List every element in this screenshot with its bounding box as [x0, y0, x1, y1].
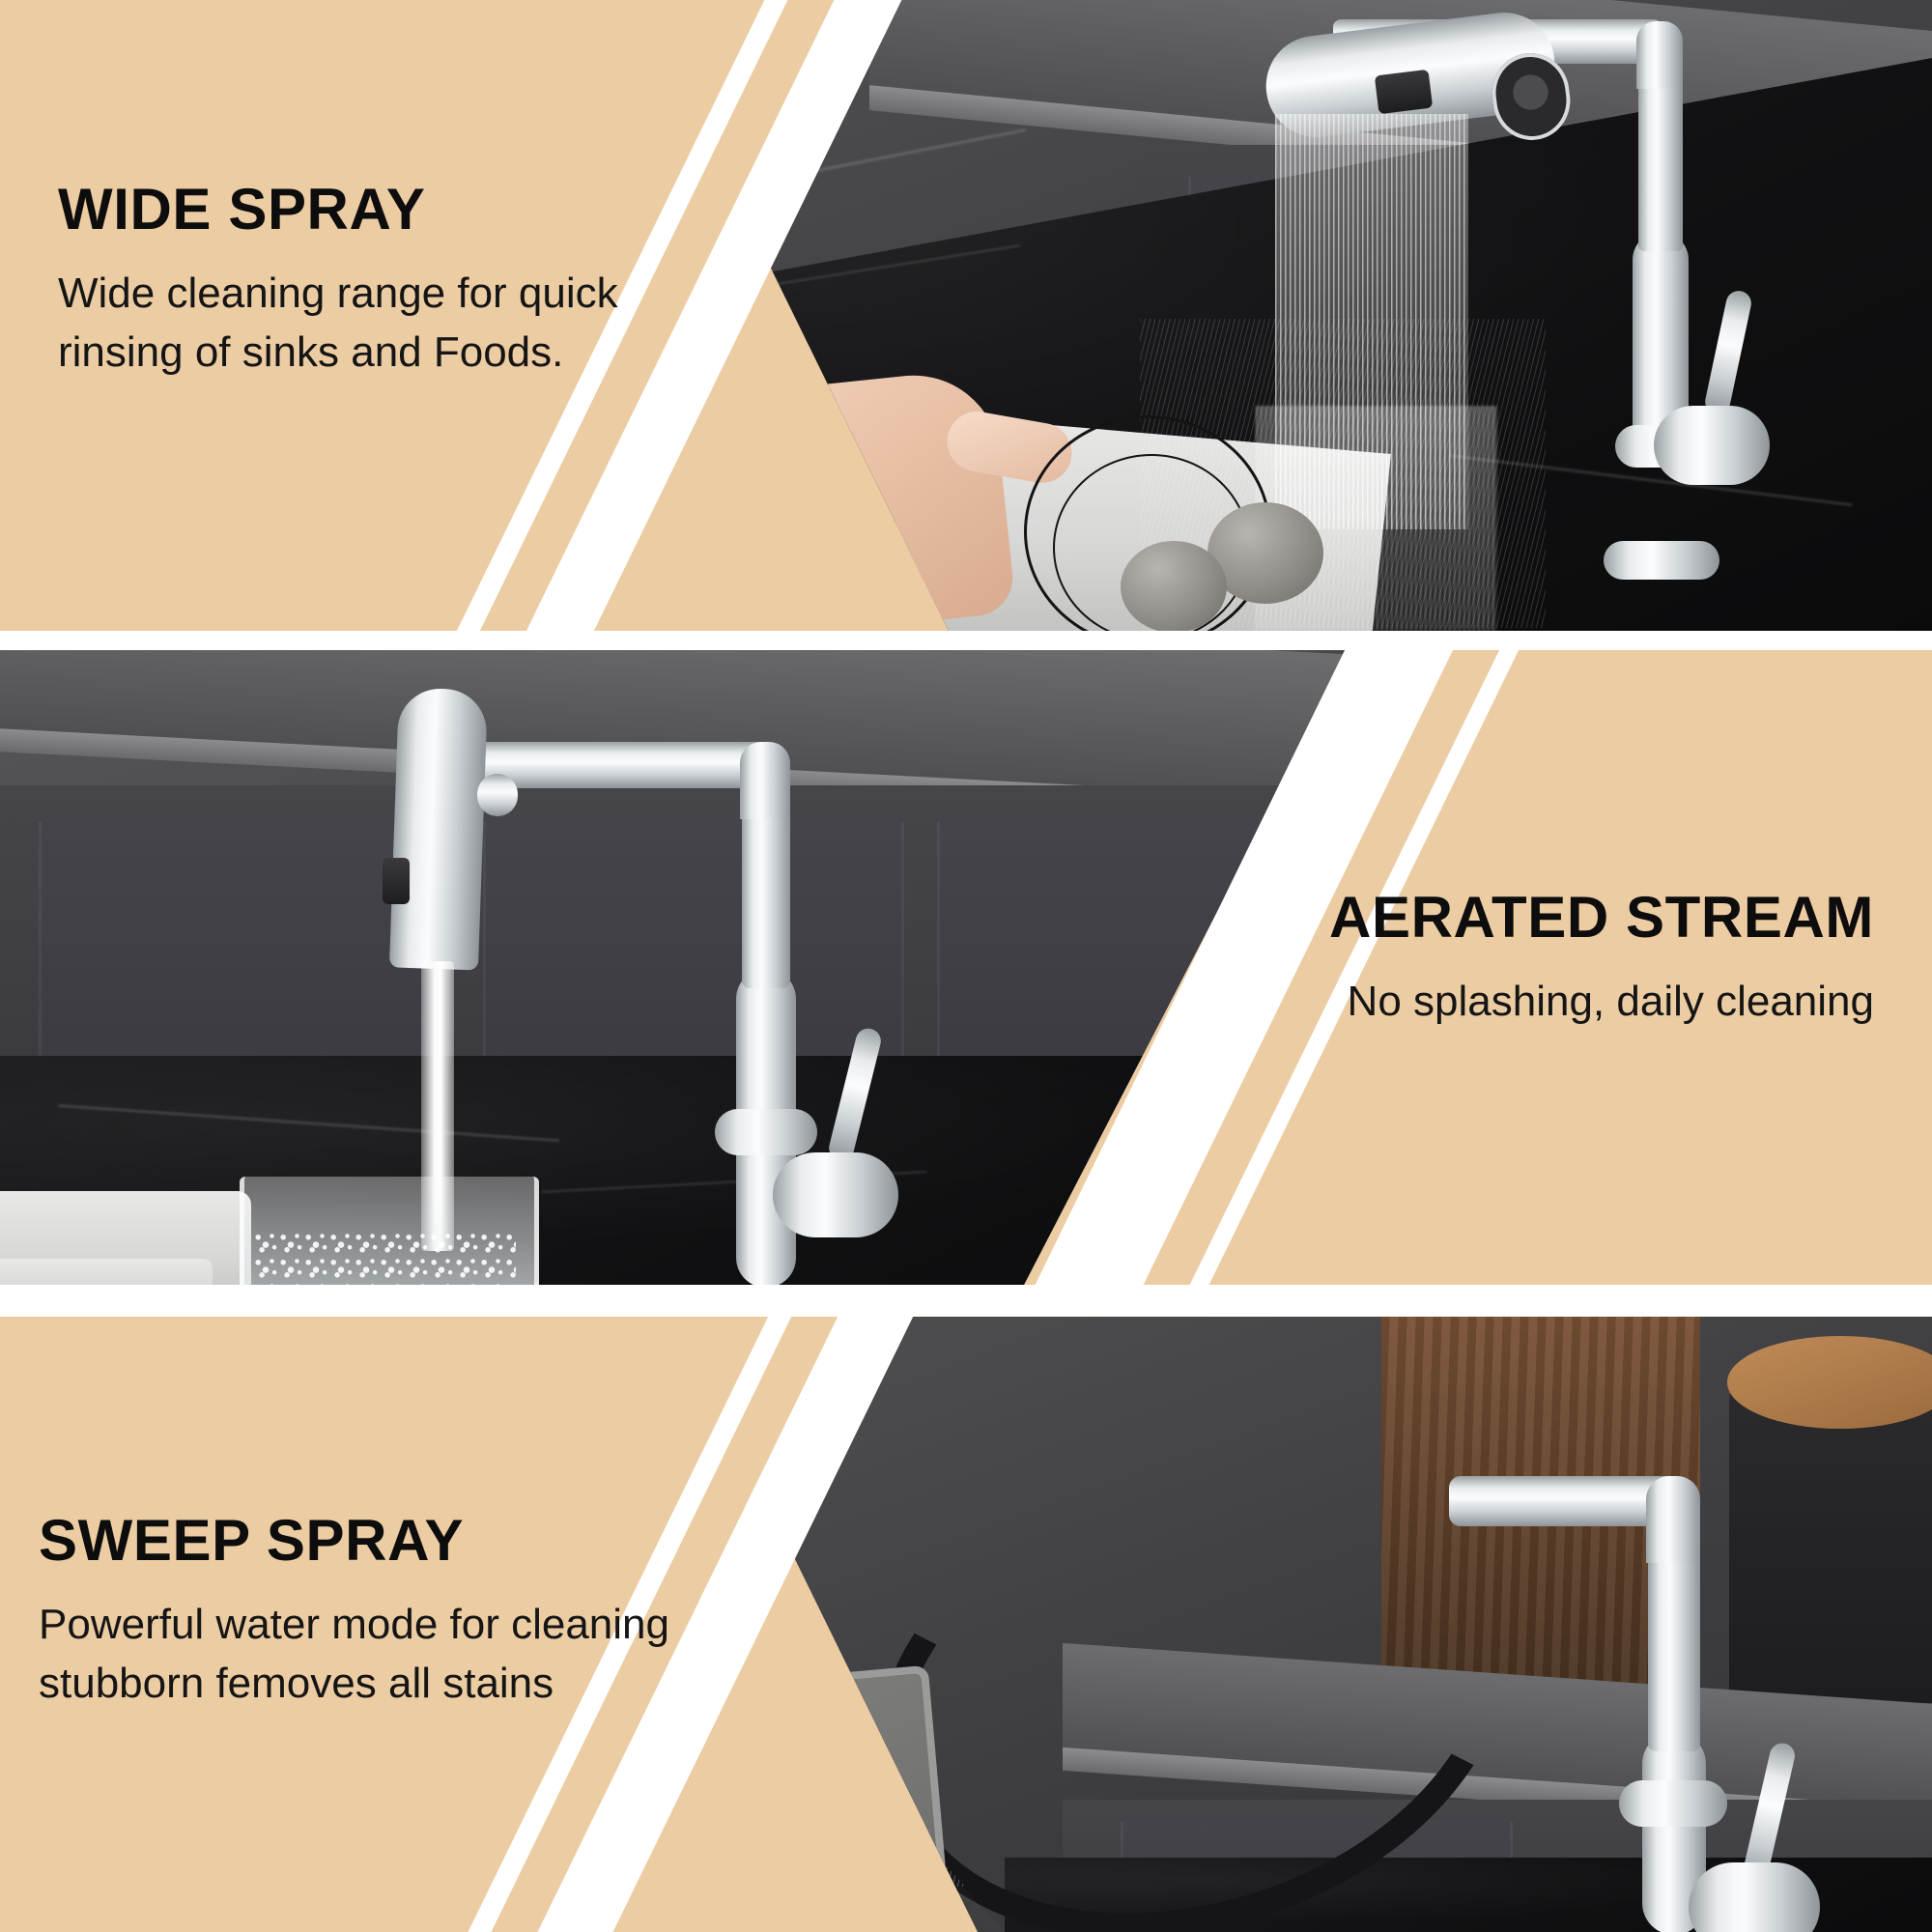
faucet-arm-elbow	[1646, 1476, 1700, 1563]
feature-panel-wide-spray: WIDE SPRAY Wide cleaning range for quick…	[0, 0, 1932, 631]
feature-panel-aerated-stream: AERATED STREAM No splashing, daily clean…	[0, 650, 1932, 1285]
panel-2-copy: AERATED STREAM No splashing, daily clean…	[1329, 887, 1874, 1032]
faucet-handle-cap	[1689, 1862, 1820, 1932]
faucet-base-collar	[1619, 1780, 1727, 1827]
spray-mode-button	[604, 1450, 639, 1505]
spray-head-body	[389, 687, 488, 970]
tray-stain-1	[456, 1755, 838, 1932]
faucet-handle-cap	[773, 1152, 898, 1237]
feature-panel-sweep-spray: SWEEP SPRAY Powerful water mode for clea…	[0, 1317, 1932, 1932]
hand	[607, 367, 1016, 631]
spray-head-pivot	[477, 774, 518, 816]
panel-2-headline: AERATED STREAM	[1329, 887, 1874, 948]
faucet-handle-cap	[1654, 406, 1770, 485]
cup-bubbles	[253, 1230, 516, 1285]
spray-mode-button	[383, 858, 410, 904]
faucet-base-collar	[715, 1109, 817, 1155]
potato-2	[1121, 541, 1227, 631]
panel-3-headline: SWEEP SPRAY	[39, 1510, 676, 1571]
hand-lower	[5, 1786, 266, 1932]
faucet-arm-elbow	[1636, 21, 1683, 89]
panel-3-copy: SWEEP SPRAY Powerful water mode for clea…	[39, 1510, 676, 1713]
panel-3-subcopy: Powerful water mode for cleaning stubbor…	[39, 1596, 676, 1713]
dish-rack	[0, 1259, 213, 1285]
panel-1-copy: WIDE SPRAY Wide cleaning range for quick…	[58, 179, 657, 382]
faucet-arm-elbow	[740, 742, 790, 819]
cabinet-panel-right	[937, 819, 1358, 1095]
panel-1-headline: WIDE SPRAY	[58, 179, 657, 240]
infographic-sheet: WIDE SPRAY Wide cleaning range for quick…	[0, 0, 1932, 1932]
canister	[1729, 1384, 1932, 1703]
cabinet-panel-mid	[483, 819, 904, 1095]
tray-stain-2	[245, 1847, 507, 1932]
spray-mode-button	[1375, 70, 1433, 115]
panel-2-subcopy: No splashing, daily cleaning	[1329, 973, 1874, 1032]
panel-1-subcopy: Wide cleaning range for quick rinsing of…	[58, 265, 657, 382]
faucet-base	[1604, 541, 1719, 580]
